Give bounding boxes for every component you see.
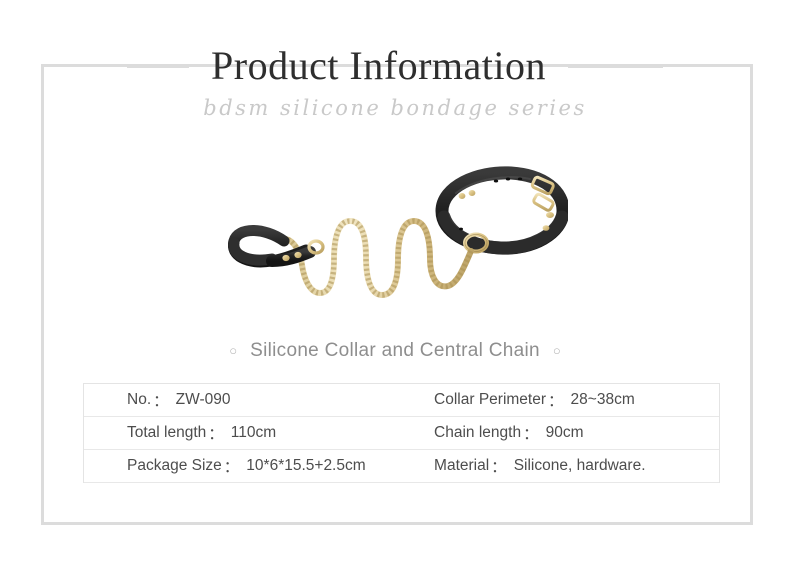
handle-loop-group	[233, 231, 323, 262]
table-row: No. ： ZW-090 Collar Perimeter ： 28~38cm	[84, 384, 719, 417]
spec-value: 110cm	[231, 424, 276, 442]
collar-group	[442, 173, 563, 252]
spec-label: No.	[127, 391, 151, 409]
product-photo	[228, 155, 568, 320]
page-header: Product Information bdsm silicone bondag…	[0, 38, 790, 120]
spec-separator: ：	[153, 389, 169, 411]
spec-value: 28~38cm	[571, 391, 635, 409]
spec-separator: ：	[224, 455, 240, 477]
spec-label: Collar Perimeter	[434, 391, 546, 409]
spec-value: 10*6*15.5+2.5cm	[246, 457, 365, 475]
chain-link-texture	[286, 221, 471, 295]
spec-cell-collar-perimeter: Collar Perimeter ： 28~38cm	[398, 384, 719, 416]
spec-cell-no: No. ： ZW-090	[84, 384, 398, 416]
spec-label: Chain length	[434, 424, 521, 442]
spec-cell-total-length: Total length ： 110cm	[84, 417, 398, 449]
spec-label: Total length	[127, 424, 206, 442]
ring-bullet-left-icon: ○	[229, 344, 237, 357]
table-row: Total length ： 110cm Chain length ： 90cm	[84, 417, 719, 450]
title-rule-right-icon	[568, 65, 663, 68]
spec-value: Silicone, hardware.	[514, 457, 646, 475]
spec-separator: ：	[491, 455, 507, 477]
product-name: Silicone Collar and Central Chain	[250, 340, 540, 362]
title-row: Product Information	[0, 38, 790, 94]
ring-bullet-right-icon: ○	[553, 344, 561, 357]
product-name-row: ○ Silicone Collar and Central Chain ○	[0, 340, 790, 362]
spec-label: Package Size	[127, 457, 222, 475]
spec-label: Material	[434, 457, 489, 475]
spec-separator: ：	[548, 389, 564, 411]
spec-separator: ：	[208, 422, 224, 444]
spec-value: 90cm	[546, 424, 584, 442]
spec-cell-package-size: Package Size ： 10*6*15.5+2.5cm	[84, 450, 398, 482]
table-row: Package Size ： 10*6*15.5+2.5cm Material …	[84, 450, 719, 483]
spec-cell-chain-length: Chain length ： 90cm	[398, 417, 719, 449]
page-subtitle: bdsm silicone bondage series	[0, 96, 790, 120]
spec-table: No. ： ZW-090 Collar Perimeter ： 28~38cm …	[83, 383, 720, 483]
spec-separator: ：	[523, 422, 539, 444]
spec-cell-material: Material ： Silicone, hardware.	[398, 450, 719, 482]
title-rule-left-icon	[127, 65, 189, 68]
spec-value: ZW-090	[176, 391, 231, 409]
product-information-page: Product Information bdsm silicone bondag…	[0, 0, 790, 571]
page-title: Product Information	[211, 40, 546, 92]
